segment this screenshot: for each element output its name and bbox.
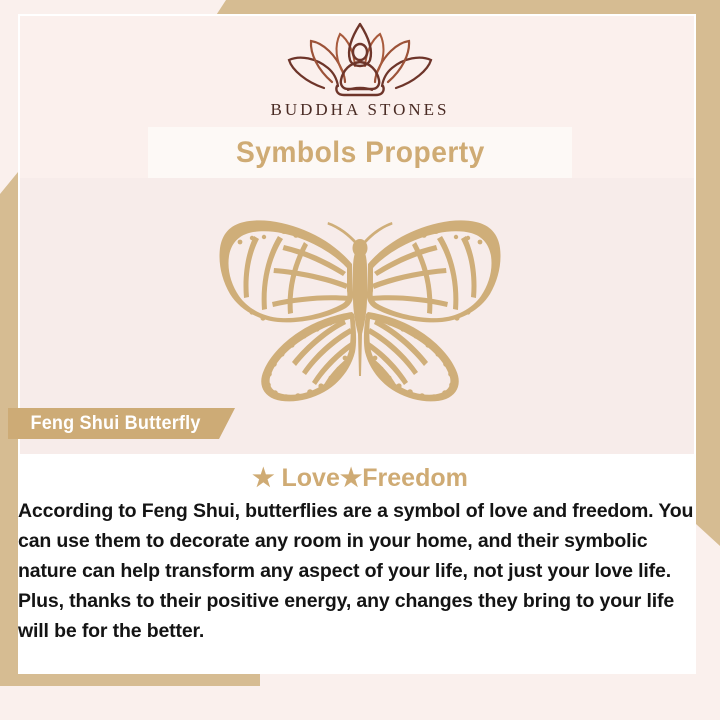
frame-bottom-strip — [0, 686, 720, 720]
symbols-property-infographic: BUDDHA STONES Symbols Property — [0, 0, 720, 720]
feng-shui-butterfly-ribbon: Feng Shui Butterfly — [8, 408, 235, 439]
brand-wordmark: BUDDHA STONES — [0, 100, 720, 120]
ribbon-label: Feng Shui Butterfly — [30, 413, 200, 435]
title-band: Symbols Property — [148, 127, 572, 178]
butterfly-illustration — [0, 206, 720, 406]
page-title: Symbols Property — [236, 136, 485, 170]
lotus-meditation-icon — [280, 18, 440, 98]
brand-logo: BUDDHA STONES — [0, 18, 720, 120]
butterfly-icon — [200, 206, 520, 406]
section-subtitle: ★ Love★Freedom — [0, 463, 720, 493]
section-paragraph: According to Feng Shui, butterflies are … — [18, 496, 708, 646]
